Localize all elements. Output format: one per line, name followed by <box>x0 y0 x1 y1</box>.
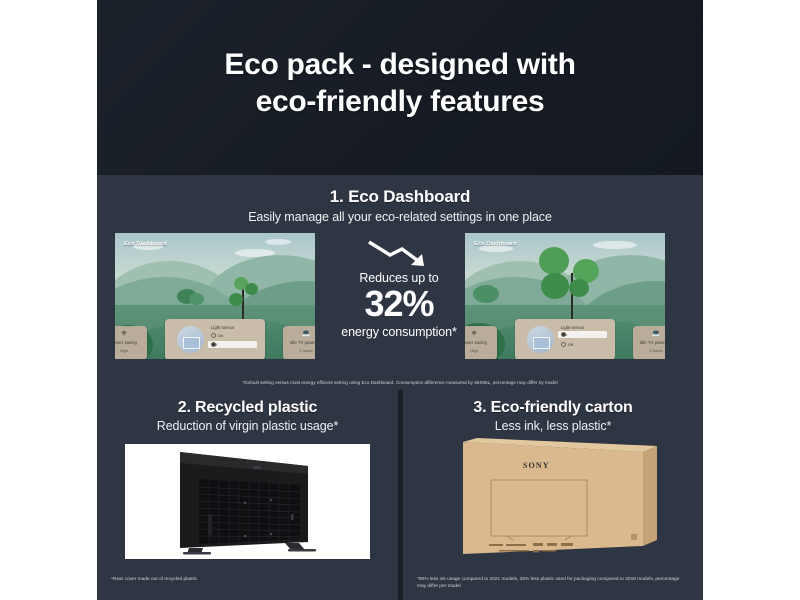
page-title-line2: eco-friendly features <box>97 84 703 121</box>
power-icon: ⎈ <box>115 330 147 337</box>
bush-icon <box>189 293 204 305</box>
radio-selected-marker <box>561 332 568 337</box>
power-icon: ⎈ <box>465 330 497 337</box>
card-light-sensor[interactable]: Light sensor On Off <box>515 319 615 359</box>
eco-pack-infographic: Eco pack - designed with eco-friendly fe… <box>0 0 800 600</box>
tree-foliage-icon <box>245 283 258 295</box>
tv-screenshot-before: Eco Dashboard ⎈ Power saving High Light … <box>115 233 315 359</box>
card-power-saving-value: High <box>115 348 147 353</box>
card-light-sensor-title: Light sensor <box>561 325 584 330</box>
section1-title: 1. Eco Dashboard <box>97 175 703 207</box>
cardboard-carton-photo: SONY <box>403 438 703 560</box>
light-sensor-off-label: Off <box>568 342 573 347</box>
card-light-sensor-title: Light sensor <box>211 325 234 330</box>
tv-screen-label: Eco Dashboard <box>474 241 517 247</box>
section-recycled-plastic: 2. Recycled plastic Reduction of virgin … <box>97 390 398 600</box>
card-power-saving[interactable]: ⎈ Power saving High <box>465 326 497 359</box>
section1-subtitle: Easily manage all your eco-related setti… <box>97 210 703 224</box>
tv-screenshot-after: Eco Dashboard ⎈ Power saving High Light … <box>465 233 665 359</box>
light-sensor-option-off[interactable]: Off <box>561 342 573 347</box>
radio-icon <box>211 333 216 338</box>
page-title-line1: Eco pack - designed with <box>97 47 703 84</box>
bush-icon <box>473 285 499 303</box>
globe-icon <box>177 326 204 353</box>
reduction-percentage: 32% <box>315 286 483 322</box>
card-light-sensor[interactable]: Light sensor On Off <box>165 319 265 359</box>
cloud-icon <box>593 241 637 249</box>
globe-icon <box>527 326 554 353</box>
card-power-saving-value: High <box>465 348 497 353</box>
reduction-callout: Reduces up to 32% energy consumption* <box>315 233 483 339</box>
tv-icon: 💻 <box>283 330 315 337</box>
tree-foliage-icon <box>569 279 589 297</box>
cloud-icon <box>265 239 291 245</box>
eco-dashboard-cards: ⎈ Power saving High Light sensor On Off <box>115 319 315 359</box>
card-idle-tv-power-off[interactable]: 💻 Idle TV power off 2 hours <box>633 326 665 359</box>
reduction-small-bottom: energy consumption* <box>315 325 483 339</box>
tree-foliage-icon <box>541 273 569 299</box>
tree-foliage-icon <box>229 293 243 306</box>
section2-subtitle: Reduction of virgin plastic usage* <box>97 419 398 433</box>
radio-selected-marker <box>211 342 218 347</box>
light-sensor-option-on[interactable]: On <box>211 333 223 338</box>
card-idle-value: 2 hours <box>283 348 315 353</box>
tv-icon: 💻 <box>633 330 665 337</box>
eco-dashboard-cards: ⎈ Power saving High Light sensor On <box>465 319 665 359</box>
radio-icon <box>561 342 566 347</box>
tv-screen-label: Eco Dashboard <box>124 241 167 247</box>
page-title: Eco pack - designed with eco-friendly fe… <box>97 47 703 120</box>
section-eco-friendly-carton: 3. Eco-friendly carton Less ink, less pl… <box>403 390 703 600</box>
tv-rear-view-photo <box>125 444 370 559</box>
hero-banner: Eco pack - designed with eco-friendly fe… <box>97 0 703 175</box>
down-right-arrow-icon <box>366 239 432 269</box>
card-power-saving-title: Power saving <box>115 340 147 345</box>
card-idle-title: Idle TV power off <box>283 340 315 345</box>
tree-foliage-icon <box>539 247 569 275</box>
section1-footnote: *Default setting versus most energy effi… <box>115 380 685 385</box>
carton-brand-label: SONY <box>523 461 550 470</box>
radio-icon <box>211 342 216 347</box>
card-idle-title: Idle TV power off <box>633 340 665 345</box>
card-idle-tv-power-off[interactable]: 💻 Idle TV power off 2 hours <box>283 326 315 359</box>
tv-comparison-row: Eco Dashboard ⎈ Power saving High Light … <box>97 233 703 365</box>
section-eco-dashboard: 1. Eco Dashboard Easily manage all your … <box>97 175 703 390</box>
bottom-sections: 2. Recycled plastic Reduction of virgin … <box>97 390 703 600</box>
content-column: Eco pack - designed with eco-friendly fe… <box>97 0 703 600</box>
tv-rear-illustration <box>125 444 370 559</box>
section3-subtitle: Less ink, less plastic* <box>403 419 703 433</box>
radio-icon <box>561 332 566 337</box>
carton-illustration: SONY <box>403 438 703 560</box>
section2-footnote: *Rear cover made out of recycled plastic <box>111 577 197 582</box>
card-power-saving[interactable]: ⎈ Power saving High <box>115 326 147 359</box>
light-sensor-on-label: On <box>218 333 223 338</box>
card-power-saving-title: Power saving <box>465 340 497 345</box>
card-idle-value: 2 hours <box>633 348 665 353</box>
section2-title: 2. Recycled plastic <box>97 390 398 417</box>
section3-title: 3. Eco-friendly carton <box>403 390 703 417</box>
section3-footnote: *90% less ink usage compared to 2021 mod… <box>417 576 689 590</box>
